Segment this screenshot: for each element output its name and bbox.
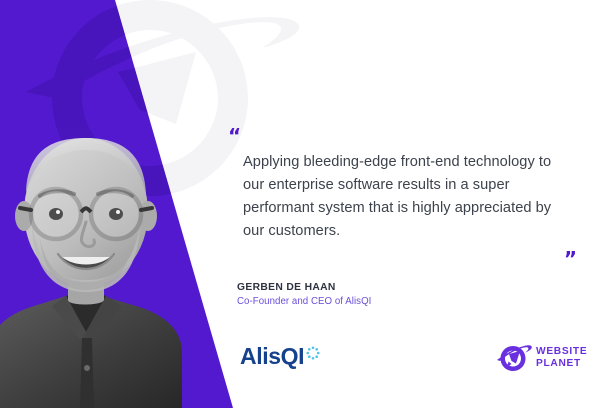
- quote-block: “ Applying bleeding-edge front-end techn…: [228, 126, 580, 269]
- quote-open-mark: “: [228, 126, 580, 142]
- quote-close-mark: ”: [228, 249, 580, 269]
- speaker-name: GERBEN DE HAAN: [237, 281, 371, 294]
- attribution: GERBEN DE HAAN Co-Founder and CEO of Ali…: [237, 281, 371, 308]
- purple-accent-panel: [0, 0, 260, 408]
- wp-line-2: PLANET: [536, 358, 587, 370]
- testimonial-card: “ Applying bleeding-edge front-end techn…: [0, 0, 600, 408]
- dotted-circle-icon: [306, 346, 320, 360]
- quote-text: Applying bleeding-edge front-end technol…: [243, 151, 575, 243]
- alisqi-logo[interactable]: AlisQI: [240, 345, 320, 368]
- planet-rocket-icon: [496, 341, 532, 375]
- speaker-portrait: [0, 100, 214, 408]
- speaker-role: Co-Founder and CEO of AlisQI: [237, 295, 371, 308]
- website-planet-logo[interactable]: WEBSITE PLANET: [496, 341, 587, 375]
- alisqi-wordmark: AlisQI: [240, 345, 304, 368]
- website-planet-wordmark: WEBSITE PLANET: [536, 346, 587, 370]
- wp-line-1: WEBSITE: [536, 346, 587, 358]
